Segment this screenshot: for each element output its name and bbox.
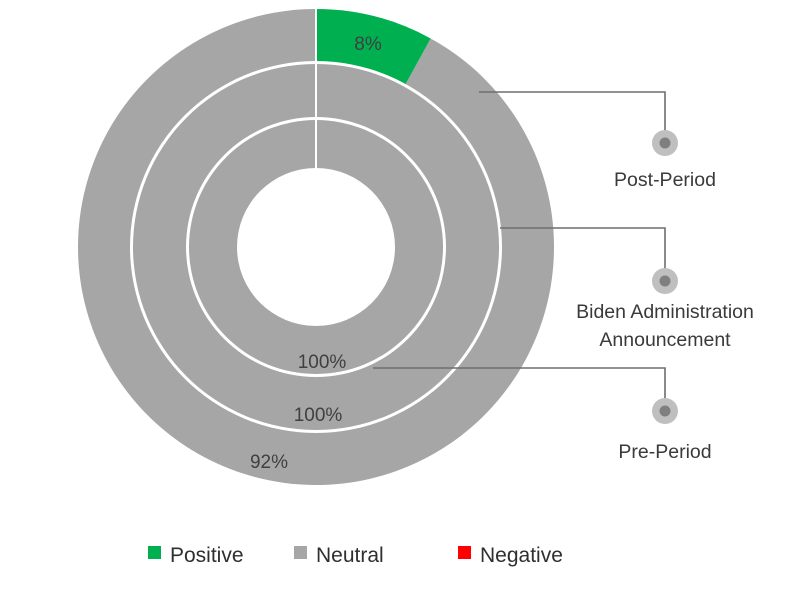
callout-label-pre-period: Pre-Period (618, 441, 711, 463)
callout-label-biden-announcement-line2: Announcement (599, 329, 731, 351)
legend-swatch-negative (458, 546, 471, 559)
legend-swatch-neutral (294, 546, 307, 559)
legend-label-negative: Negative (480, 544, 563, 567)
callout-marker-dot-post-period (660, 138, 671, 149)
slice-label-biden-announcement-neutral: 100% (294, 405, 343, 426)
slice-label-pre-period-positive: 8% (354, 34, 382, 55)
doughnut-hole (237, 168, 395, 326)
legend-label-positive: Positive (170, 544, 244, 567)
callout-label-biden-announcement-line1: Biden Administration (576, 301, 754, 323)
legend-swatch-positive (148, 546, 161, 559)
legend-item-negative[interactable]: Negative (458, 544, 563, 567)
slice-label-pre-period-neutral: 92% (250, 452, 288, 473)
legend-item-positive[interactable]: Positive (148, 544, 244, 567)
legend-label-neutral: Neutral (316, 544, 384, 567)
callout-marker-dot-biden-announcement (660, 276, 671, 287)
doughnut-chart-figure: 8% 100% 100% 92% Post-Period Biden Admin… (0, 0, 787, 590)
chart-legend: Positive Neutral Negative (148, 544, 563, 567)
slice-label-post-period-neutral: 100% (298, 352, 347, 373)
legend-item-neutral[interactable]: Neutral (294, 544, 384, 567)
callout-label-post-period: Post-Period (614, 169, 716, 191)
callout-marker-dot-pre-period (660, 406, 671, 417)
chart-canvas: 8% 100% 100% 92% Post-Period Biden Admin… (0, 0, 787, 590)
